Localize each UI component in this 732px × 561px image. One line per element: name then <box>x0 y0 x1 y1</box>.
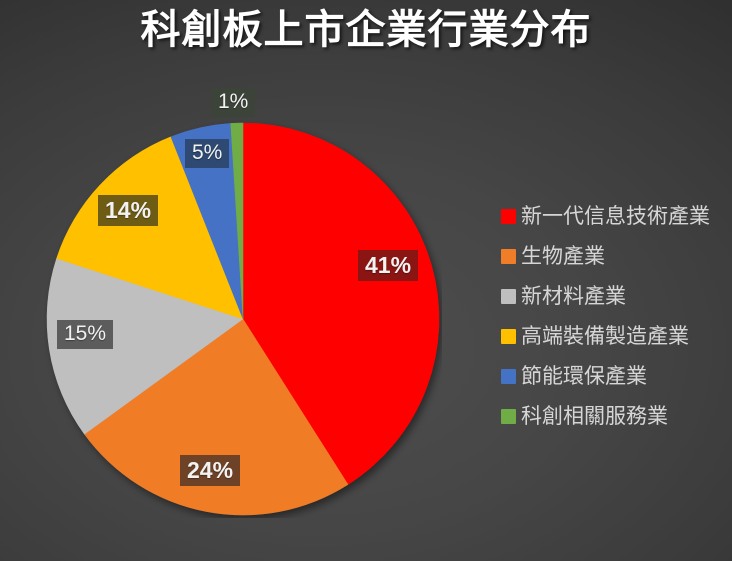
data-label-slice-4: 14% <box>98 195 158 226</box>
legend-item-2[interactable]: 新材料產業 <box>501 276 732 316</box>
legend-swatch-icon-1 <box>501 249 516 264</box>
legend-item-label-4: 節能環保產業 <box>521 366 647 387</box>
legend-item-label-0: 新一代信息技術產業 <box>521 206 710 227</box>
pie-svg <box>44 120 442 518</box>
legend-item-1[interactable]: 生物產業 <box>501 236 732 276</box>
data-label-slice-5: 5% <box>185 139 229 168</box>
chart-title: 科創板上市企業行業分布 <box>0 6 732 54</box>
legend-item-5[interactable]: 科創相關服務業 <box>501 396 732 436</box>
data-label-slice-3: 15% <box>57 320 113 349</box>
pie-chart-container: 科創板上市企業行業分布 41% 24% 15% 14% 5% 1% 新一代信息技… <box>0 0 732 561</box>
legend-swatch-icon-2 <box>501 289 516 304</box>
data-label-slice-1: 41% <box>358 250 418 281</box>
pie-graphic[interactable] <box>44 120 442 518</box>
legend-swatch-icon-4 <box>501 369 516 384</box>
legend-item-0[interactable]: 新一代信息技術產業 <box>501 196 732 236</box>
legend-item-3[interactable]: 高端裝備製造產業 <box>501 316 732 356</box>
chart-legend: 新一代信息技術產業 生物產業 新材料產業 高端裝備製造產業 節能環保產業 科創相… <box>501 196 732 436</box>
data-label-slice-6: 1% <box>211 88 255 117</box>
legend-swatch-icon-5 <box>501 409 516 424</box>
data-label-slice-2: 24% <box>180 455 240 486</box>
legend-item-label-2: 新材料產業 <box>521 286 626 307</box>
pie-slices-group <box>47 123 439 515</box>
legend-item-label-3: 高端裝備製造產業 <box>521 326 689 347</box>
legend-item-4[interactable]: 節能環保產業 <box>501 356 732 396</box>
legend-swatch-icon-3 <box>501 329 516 344</box>
legend-swatch-icon-0 <box>501 209 516 224</box>
legend-item-label-1: 生物產業 <box>521 246 605 267</box>
legend-item-label-5: 科創相關服務業 <box>521 406 668 427</box>
